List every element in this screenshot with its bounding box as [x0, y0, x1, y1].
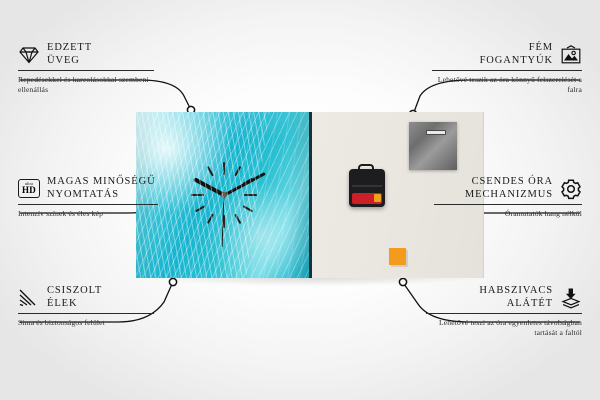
- product-photo: [136, 112, 484, 278]
- feature-description: Lehetővé teszi az óra egyenletes távolsá…: [426, 318, 582, 337]
- clock-tick: [223, 162, 225, 228]
- minute-hand: [223, 172, 265, 196]
- clock-tick: [195, 178, 253, 213]
- feature-title-line2: ÜVEG: [47, 55, 92, 68]
- feature-description: Sima és biztonságos felület: [18, 318, 154, 328]
- feature-title-line1: CSENDES ÓRA: [465, 176, 553, 189]
- polished-edge-icon: [18, 287, 40, 309]
- feature-description: Óramutatók hang nélkül: [434, 209, 582, 219]
- feature-title-line1: CSISZOLT: [47, 285, 102, 298]
- divider: [434, 204, 582, 205]
- diamond-icon: [18, 44, 40, 66]
- clock-dial: [136, 112, 312, 278]
- divider: [18, 313, 154, 314]
- divider: [426, 313, 582, 314]
- feature-title-line1: EDZETT: [47, 42, 92, 55]
- feature-foam-pad[interactable]: HABSZIVACS ALÁTÉT Lehetővé teszi az óra …: [426, 285, 582, 337]
- feature-title-line2: ÉLEK: [47, 298, 102, 311]
- clock-mechanism: [349, 169, 385, 207]
- feature-title-line1: FÉM: [480, 42, 553, 55]
- divider: [432, 70, 582, 71]
- clock-tick: [195, 178, 253, 213]
- clock-front-face: [136, 112, 312, 278]
- foam-pad: [389, 248, 406, 265]
- clock-tick: [191, 194, 257, 196]
- clock-tick: [207, 166, 242, 224]
- ultra-hd-large-text: HD: [22, 186, 36, 195]
- clock-tick: [207, 166, 242, 224]
- feature-high-quality-print[interactable]: ultra HD MAGAS MINŐSÉGŰ NYOMTATÁS Intenz…: [18, 176, 158, 219]
- divider: [18, 204, 158, 205]
- second-hand: [221, 195, 224, 247]
- clock-hub: [221, 192, 227, 198]
- feature-title-line1: MAGAS MINŐSÉGŰ: [47, 176, 156, 189]
- feature-description: Intenzív színek és éles kép: [18, 209, 158, 219]
- feature-polished-edges[interactable]: CSISZOLT ÉLEK Sima és biztonságos felüle…: [18, 285, 154, 328]
- clock-tick: [223, 162, 225, 228]
- clock-tick: [195, 178, 253, 213]
- feature-title-line2: NYOMTATÁS: [47, 189, 156, 202]
- feature-title-line2: MECHANIZMUS: [465, 189, 553, 202]
- foam-pad-icon: [560, 287, 582, 309]
- picture-hanger-icon: [560, 44, 582, 66]
- clock-tick: [191, 194, 257, 196]
- hour-hand: [193, 177, 225, 196]
- clock-tick: [207, 166, 242, 224]
- infographic-canvas: EDZETT ÜVEG Repedésekkel és karcolásokka…: [0, 0, 600, 400]
- feature-title-line1: HABSZIVACS: [479, 285, 553, 298]
- divider: [18, 70, 154, 71]
- clock-tick: [207, 166, 242, 224]
- feature-title-line2: ALÁTÉT: [479, 298, 553, 311]
- feature-tempered-glass[interactable]: EDZETT ÜVEG Repedésekkel és karcolásokka…: [18, 42, 154, 94]
- feature-silent-mechanism[interactable]: CSENDES ÓRA MECHANIZMUS Óramutatók hang …: [434, 176, 582, 219]
- metal-hanger-plate: [409, 122, 457, 170]
- feature-title-line2: FOGANTYÚK: [480, 55, 553, 68]
- clock-tick: [195, 178, 253, 213]
- feature-description: Lehetővé teszik az óra könnyű felszerelé…: [432, 75, 582, 94]
- feature-description: Repedésekkel és karcolásokkal szembeni e…: [18, 75, 154, 94]
- ultra-hd-icon: ultra HD: [18, 178, 40, 200]
- feature-metal-handles[interactable]: FÉM FOGANTYÚK Lehetővé teszik az óra kön…: [432, 42, 582, 94]
- gear-icon: [560, 178, 582, 200]
